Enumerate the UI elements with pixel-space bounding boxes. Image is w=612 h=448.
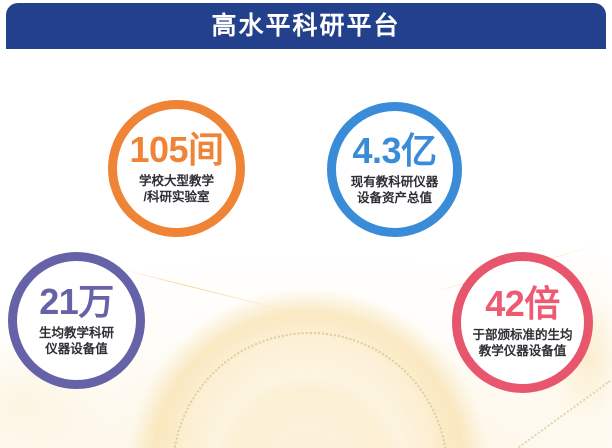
stat-value-labs: 105间 — [129, 131, 223, 169]
background-arc-outer — [128, 288, 488, 448]
stat-value-assets: 4.3亿 — [352, 132, 436, 170]
stat-circle-assets: 4.3亿 现有教科研仪器 设备资产总值 — [327, 102, 462, 237]
stat-value-ratio: 42倍 — [485, 285, 560, 323]
background-arc-inner — [212, 372, 406, 448]
background-arc-middle — [172, 332, 444, 448]
background-dotted-arc — [172, 332, 448, 448]
stat-circle-labs: 105间 学校大型教学 /科研实验室 — [108, 100, 245, 237]
stat-description-assets: 现有教科研仪器 设备资产总值 — [351, 174, 439, 208]
stat-circle-per-student: 21万 生均教学科研 仪器设备值 — [8, 252, 145, 389]
stat-description-labs: 学校大型教学 /科研实验室 — [139, 173, 214, 207]
header-banner: 高水平科研平台 — [6, 3, 606, 49]
stat-circle-ratio: 42倍 于部颁标准的生均 教学仪器设备值 — [452, 252, 593, 393]
infographic-canvas: 高水平科研平台 105间 学校大型教学 /科研实验室 4.3亿 现有教科研仪器 … — [0, 0, 612, 448]
page-title: 高水平科研平台 — [211, 14, 400, 39]
stat-description-ratio: 于部颁标准的生均 教学仪器设备值 — [472, 327, 572, 361]
stat-value-per-student: 21万 — [39, 283, 114, 321]
stat-description-per-student: 生均教学科研 仪器设备值 — [39, 325, 114, 359]
